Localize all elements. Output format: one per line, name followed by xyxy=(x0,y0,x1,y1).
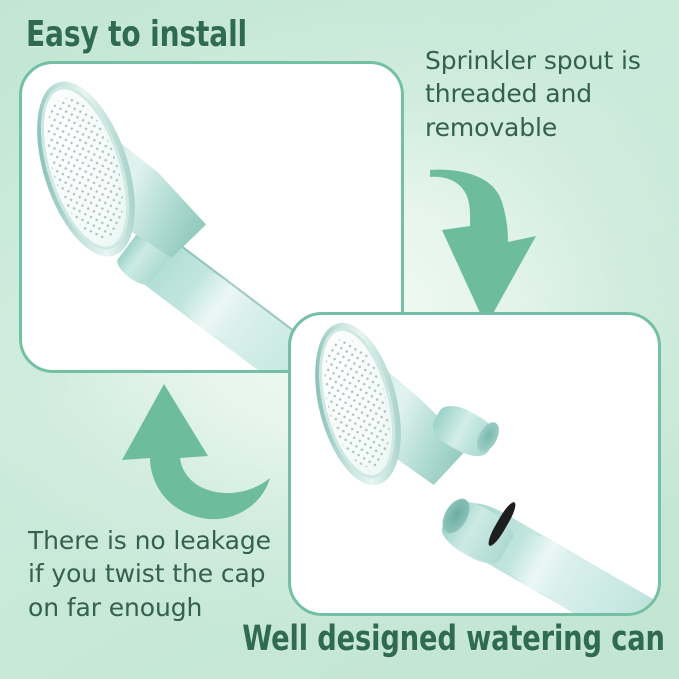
product-photo-card-detached xyxy=(288,312,661,616)
sprinkler-holes-pattern xyxy=(32,89,138,248)
sprinkler-holes-pattern-detached xyxy=(313,332,402,475)
feature-graphic-canvas: Easy to install Well designed watering c… xyxy=(0,0,679,679)
product-illustration-detached xyxy=(291,315,658,613)
curved-arrow-up-icon xyxy=(112,382,272,534)
caption-sprinkler-removable: Sprinkler spout is threaded and removabl… xyxy=(425,44,675,144)
tube-highlight xyxy=(176,265,261,348)
page-title-well-designed: Well designed watering can xyxy=(242,619,665,659)
caption-no-leakage: There is no leakage if you twist the cap… xyxy=(28,524,288,624)
page-title-easy-to-install: Easy to install xyxy=(26,14,247,55)
curved-arrow-down-icon xyxy=(424,168,584,330)
tube-highlight-detached xyxy=(503,527,581,602)
